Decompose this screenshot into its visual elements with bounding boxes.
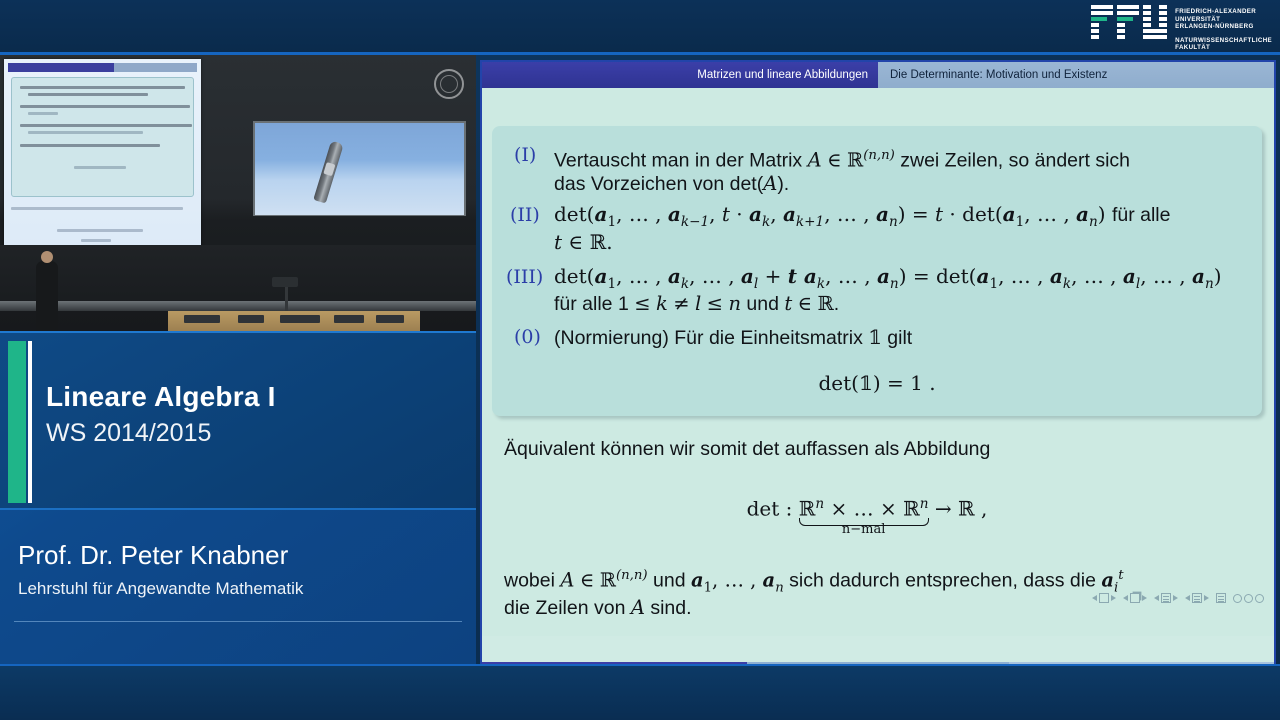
- fau-logo: FRIEDRICH-ALEXANDER UNIVERSITÄT ERLANGEN…: [1091, 5, 1272, 52]
- video-player-page: FRIEDRICH-ALEXANDER UNIVERSITÄT ERLANGEN…: [0, 0, 1280, 720]
- nav-first-slide-icon[interactable]: [1092, 593, 1116, 603]
- lecture-info-panel: Lineare Algebra I WS 2014/2015 Prof. Dr.…: [0, 331, 476, 664]
- theorem-item-I-line2: das Vorzeichen von det(A).: [554, 171, 789, 197]
- theorem-item-II-line1: det(a1, … , ak−1, t · ak, ak+1, … , an) …: [554, 201, 1170, 235]
- info-panel-divider: [14, 621, 462, 622]
- mapping-equation: det : ℝn × … × ℝn n−mal → ℝ ,: [482, 496, 1252, 523]
- theorem-item-label-0: (0): [514, 326, 541, 348]
- slide-frame[interactable]: Matrizen und lineare Abbildungen Die Det…: [480, 60, 1276, 664]
- theorem-item-III-line2: für alle 1 ≤ k ≠ l ≤ n und t ∈ ℝ.: [554, 291, 839, 317]
- nav-last-slide-icon[interactable]: [1216, 593, 1226, 603]
- hall-projection-screen: [255, 123, 464, 215]
- blackboard-rail: [0, 301, 476, 311]
- fau-logo-mark: [1091, 5, 1167, 39]
- blackboard: [0, 245, 476, 307]
- accent-bar-green: [8, 341, 26, 503]
- fau-faculty-line-1: FAKULTÄT: [1175, 44, 1272, 52]
- accent-bar-white: [28, 341, 32, 503]
- hall-slide-theorem-box: [11, 77, 194, 197]
- course-title: Lineare Algebra I: [46, 381, 276, 413]
- body-closing-line2: die Zeilen von A sind.: [504, 596, 692, 620]
- document-camera-head: [272, 277, 298, 287]
- speaker-name: Prof. Dr. Peter Knabner: [18, 540, 288, 571]
- theorem-item-label-II: (II): [510, 204, 540, 226]
- lecturer-figure: [36, 261, 58, 331]
- course-title-block: Lineare Algebra I WS 2014/2015: [0, 333, 476, 510]
- bottom-footer-bar: powered by: [0, 664, 1280, 720]
- nav-section-determinante[interactable]: Die Determinante: Motivation und Existen…: [878, 62, 1274, 88]
- fau-wordmark-text: FRIEDRICH-ALEXANDER UNIVERSITÄT ERLANGEN…: [1175, 5, 1272, 52]
- fau-logo-icon: [1091, 5, 1167, 39]
- fau-brand-line-0: FRIEDRICH-ALEXANDER: [1175, 8, 1272, 16]
- fau-faculty-line-0: NATURWISSENSCHAFTLICHE: [1175, 37, 1272, 45]
- body-closing-line1: wobei A ∈ ℝ(n,n) und a1, … , an sich dad…: [504, 568, 1124, 595]
- theorem-item-II-line2: t ∈ ℝ.: [554, 229, 613, 255]
- slide-content: (I) Vertauscht man in der Matrix A ∈ ℝ(n…: [482, 88, 1274, 636]
- speaker-chair: Lehrstuhl für Angewandte Mathematik: [18, 579, 303, 599]
- underbrace-label: n−mal: [799, 522, 929, 537]
- mapping-domain-underbrace: ℝn × … × ℝn n−mal: [799, 496, 929, 523]
- fau-brand-line-1: UNIVERSITÄT: [1175, 16, 1272, 24]
- fau-brand-line-2: ERLANGEN-NÜRNBERG: [1175, 23, 1272, 31]
- theorem-item-0-line1: (Normierung) Für die Einheitsmatrix 𝟙 gi…: [554, 325, 912, 351]
- university-seal-icon: [434, 69, 464, 99]
- beamer-nav-icon-strip[interactable]: [1092, 593, 1264, 603]
- body-intro-line: Äquivalent können wir somit det auffasse…: [504, 438, 990, 461]
- nav-back-icon[interactable]: [1233, 594, 1264, 603]
- course-term: WS 2014/2015: [46, 419, 211, 448]
- hall-slide-nav-right: [114, 63, 197, 72]
- hall-slide-nav-left: [8, 63, 114, 72]
- theorem-item-I-line1: Vertauscht man in der Matrix A ∈ ℝ(n,n) …: [554, 143, 1130, 174]
- nav-prev-subsection-icon[interactable]: [1154, 593, 1178, 603]
- top-header-bar: FRIEDRICH-ALEXANDER UNIVERSITÄT ERLANGEN…: [0, 0, 1280, 55]
- slide-navigation-bar[interactable]: Matrizen und lineare Abbildungen Die Det…: [482, 62, 1274, 88]
- nav-prev-frame-icon[interactable]: [1123, 593, 1147, 603]
- theorem-item-label-III: (III): [506, 266, 543, 288]
- nav-next-subsection-icon[interactable]: [1185, 593, 1209, 603]
- theorem-equation-det-identity: det(𝟙) = 1 .: [492, 371, 1262, 395]
- desk-equipment: [176, 313, 412, 325]
- theorem-box: (I) Vertauscht man in der Matrix A ∈ ℝ(n…: [492, 126, 1262, 416]
- nav-section-matrizen[interactable]: Matrizen und lineare Abbildungen: [482, 62, 878, 88]
- lecture-video-frame[interactable]: [0, 55, 476, 331]
- theorem-item-label-I: (I): [514, 144, 536, 166]
- hall-slide-nav: [8, 63, 197, 72]
